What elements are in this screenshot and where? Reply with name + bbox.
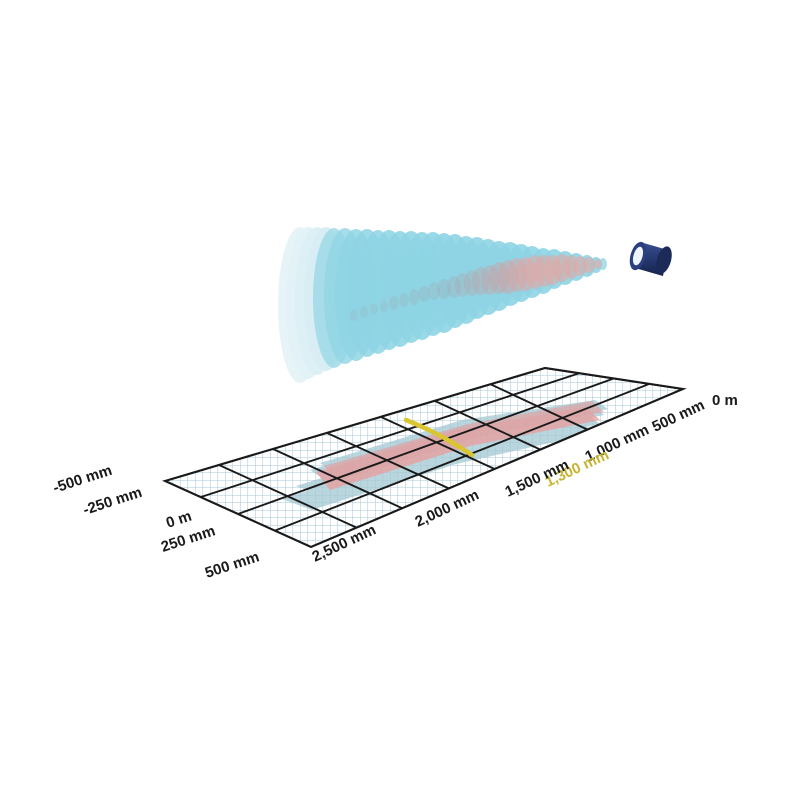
ultrasound-beam-cone [278,227,607,383]
axis-tick-range-0m: 0 m [712,392,738,409]
ultrasound-transducer [627,240,675,276]
axis-tick-lateral-0m: 0 m [164,508,194,532]
axis-tick-lateral-minus250mm: -250 mm [81,484,144,519]
cone-ring-stack [313,228,607,368]
axis-tick-lateral-500mm: 500 mm [203,548,261,581]
axis-tick-range-500mm: 500 mm [650,397,708,436]
axis-tick-lateral-minus500mm: -500 mm [51,462,114,497]
ultrasound-beam-figure: 0 m 500 mm 1,000 mm 1,300 mm 1,500 mm 2,… [0,0,800,800]
